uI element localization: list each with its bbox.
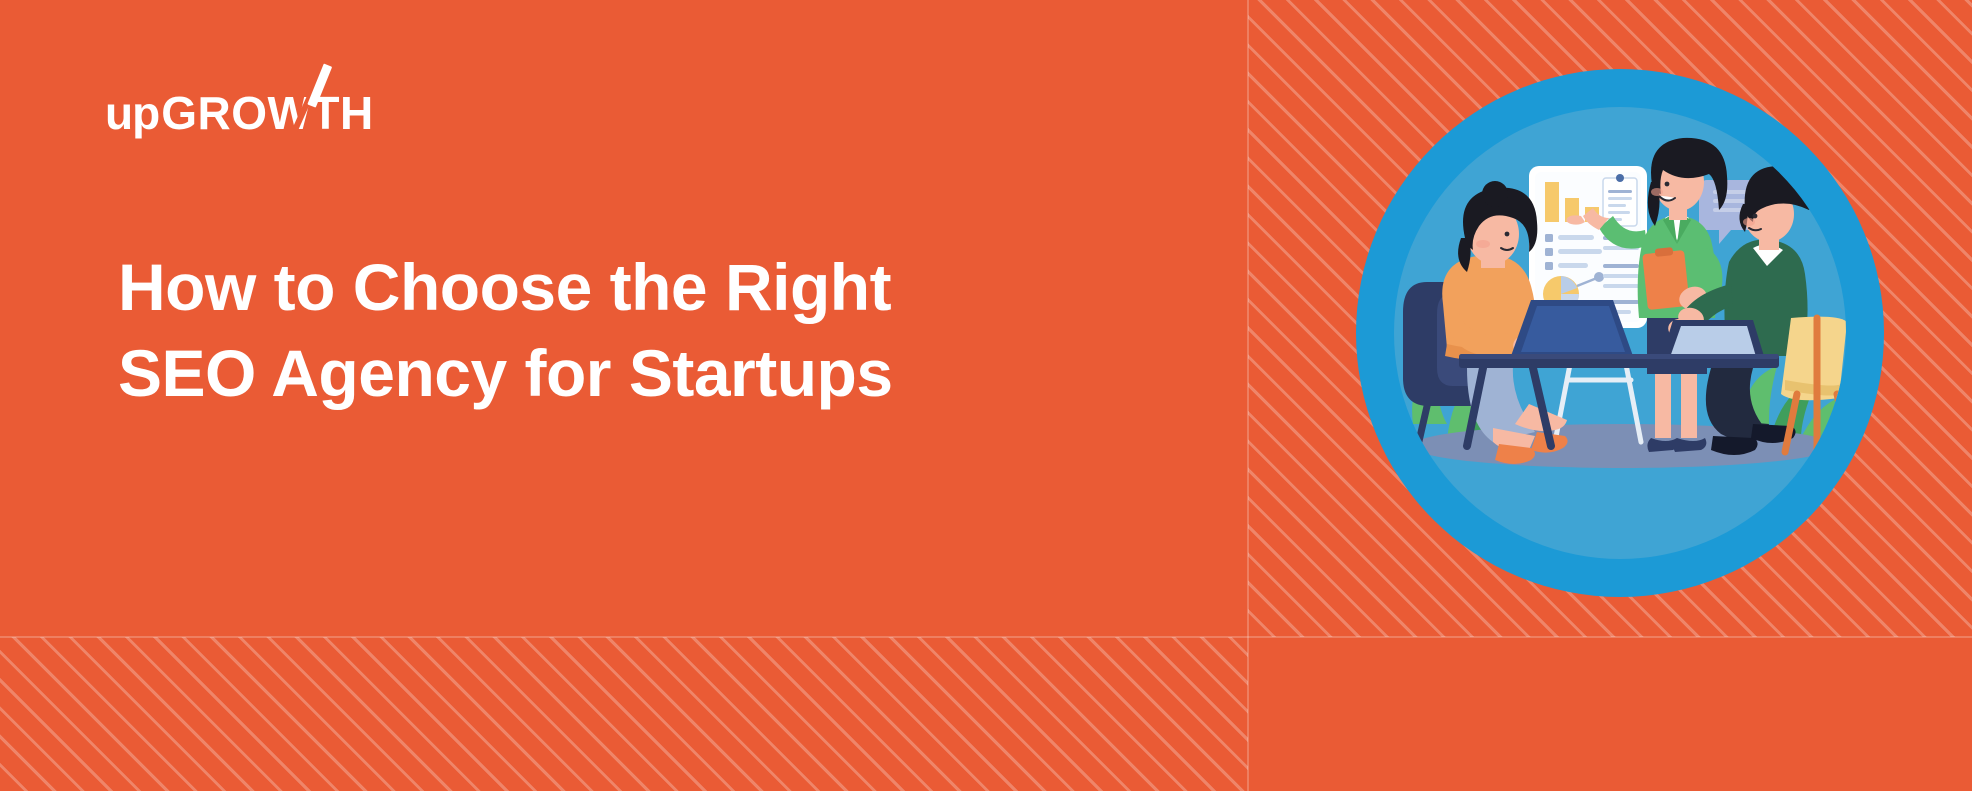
logo-suffix-text: GROWTH (161, 87, 374, 139)
upgrowth-logo[interactable]: up GROWTH (105, 80, 374, 134)
headline-line-2: SEO Agency for Startups (118, 331, 1178, 417)
quadrant-divider-horizontal (0, 636, 1972, 638)
business-team-meeting-illustration (1355, 68, 1885, 598)
logo-prefix-text: up (105, 92, 159, 134)
plain-panel-bottom-right (1248, 637, 1972, 791)
quadrant-divider-vertical (1247, 0, 1249, 791)
stripe-pattern-bottom-left (0, 637, 1248, 791)
logo-suffix-wrap: GROWTH (161, 92, 374, 134)
blog-banner: up GROWTH How to Choose the Right SEO Ag… (0, 0, 1972, 791)
illustration-svg (1355, 68, 1885, 598)
headline-line-1: How to Choose the Right (118, 245, 1178, 331)
laptop-left (1511, 300, 1633, 356)
page-title: How to Choose the Right SEO Agency for S… (118, 245, 1178, 417)
